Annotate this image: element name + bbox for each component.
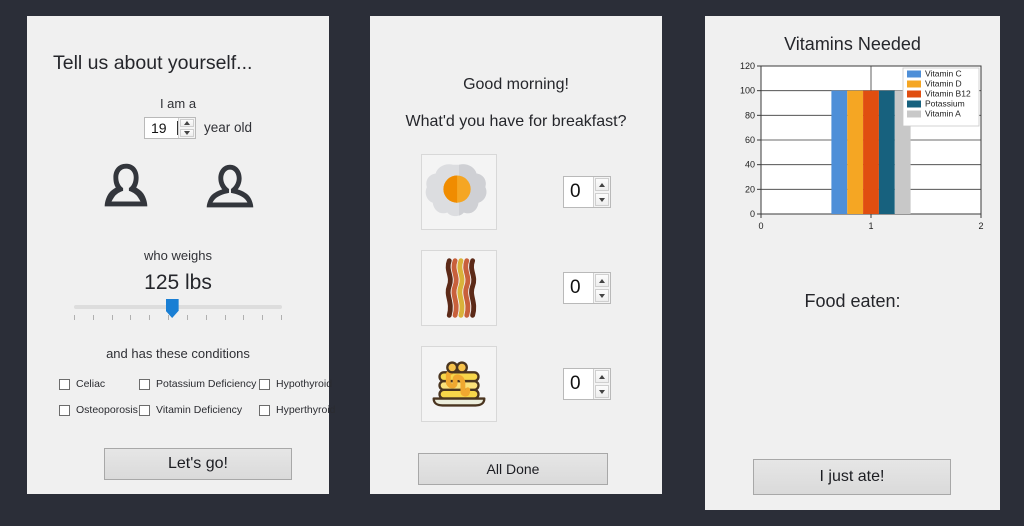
age-input[interactable]: 19: [145, 118, 177, 138]
y-tick-label: 60: [745, 135, 755, 145]
y-tick-label: 80: [745, 110, 755, 120]
legend-swatch: [907, 71, 921, 78]
checkbox-label: Potassium Deficiency: [156, 378, 256, 390]
chevron-down-icon: [599, 198, 605, 202]
bacon-increment-button[interactable]: [595, 274, 609, 287]
vitamins-panel: Vitamins Needed 020406080100120012Vitami…: [705, 16, 1000, 510]
food-row: 0: [370, 250, 662, 326]
vitamins-bar-chart: 020406080100120012Vitamin CVitamin DVita…: [729, 60, 991, 240]
checkbox-celiac[interactable]: Celiac: [59, 378, 139, 390]
checkbox-icon[interactable]: [139, 379, 150, 390]
y-tick-label: 20: [745, 184, 755, 194]
greeting-text: Good morning!: [370, 76, 662, 94]
bacon-count-input[interactable]: 0: [564, 273, 593, 303]
food-row: 0: [370, 346, 662, 422]
slider-tick: [168, 315, 169, 320]
checkbox-icon[interactable]: [259, 379, 270, 390]
chevron-up-icon: [599, 279, 605, 283]
pancakes-increment-button[interactable]: [595, 370, 609, 383]
fried-egg-icon[interactable]: [421, 154, 497, 230]
age-stepper[interactable]: 19: [144, 117, 196, 139]
all-done-button[interactable]: All Done: [418, 453, 608, 485]
chevron-up-icon: [599, 183, 605, 187]
gender-selector: [27, 156, 329, 218]
legend-swatch: [907, 91, 921, 98]
chevron-up-icon: [599, 375, 605, 379]
checkbox-icon[interactable]: [59, 405, 70, 416]
app-window: Tell us about yourself... I am a 19 year…: [0, 0, 1024, 526]
x-tick-label: 1: [868, 221, 873, 231]
x-tick-label: 2: [978, 221, 983, 231]
slider-tick: [206, 315, 207, 320]
slider-tick: [225, 315, 226, 320]
y-tick-label: 40: [745, 160, 755, 170]
slider-tick: [74, 315, 75, 320]
egg-increment-button[interactable]: [595, 178, 609, 191]
age-stepper-buttons[interactable]: [178, 118, 195, 138]
legend-swatch: [907, 101, 921, 108]
meal-panel: Good morning! What'd you have for breakf…: [370, 16, 662, 494]
slider-tick: [93, 315, 94, 320]
chevron-down-icon: [599, 294, 605, 298]
person-male-icon[interactable]: [199, 156, 261, 218]
conditions-label: and has these conditions: [27, 346, 329, 361]
slider-tick: [112, 315, 113, 320]
checkbox-potassium-deficiency[interactable]: Potassium Deficiency: [139, 378, 259, 390]
food-row: 0: [370, 154, 662, 230]
egg-count-input[interactable]: 0: [564, 177, 593, 207]
checkbox-osteoporosis[interactable]: Osteoporosis: [59, 404, 139, 416]
bar-potassium: [879, 91, 895, 214]
slider-tick: [187, 315, 188, 320]
age-decrement-button[interactable]: [180, 129, 194, 137]
x-tick-label: 0: [758, 221, 763, 231]
checkbox-icon[interactable]: [59, 379, 70, 390]
i-just-ate-button[interactable]: I just ate!: [753, 459, 951, 495]
slider-tick: [262, 315, 263, 320]
pancakes-decrement-button[interactable]: [595, 385, 609, 398]
pancakes-count-stepper[interactable]: 0: [563, 368, 611, 400]
checkbox-icon[interactable]: [259, 405, 270, 416]
bacon-count-stepper[interactable]: 0: [563, 272, 611, 304]
bacon-decrement-button[interactable]: [595, 289, 609, 302]
legend-label: Vitamin D: [925, 79, 962, 89]
lets-go-button[interactable]: Let's go!: [104, 448, 292, 480]
checkbox-label: Celiac: [76, 378, 105, 390]
bar-vitamin-c: [831, 91, 847, 214]
checkbox-vitamin-deficiency[interactable]: Vitamin Deficiency: [139, 404, 259, 416]
slider-tick: [243, 315, 244, 320]
person-female-icon[interactable]: [95, 156, 157, 218]
legend-label: Potassium: [925, 99, 965, 109]
y-tick-label: 100: [740, 86, 755, 96]
checkbox-hyperthyroid[interactable]: Hyperthyroid: [259, 404, 347, 416]
chevron-down-icon: [599, 390, 605, 394]
slider-tick: [281, 315, 282, 320]
age-label: I am a: [27, 96, 329, 111]
bar-vitamin-d: [847, 91, 863, 214]
checkbox-icon[interactable]: [139, 405, 150, 416]
chevron-up-icon: [184, 121, 190, 125]
checkbox-hypothyroid[interactable]: Hypothyroid: [259, 378, 347, 390]
y-tick-label: 0: [750, 209, 755, 219]
egg-stepper-buttons[interactable]: [593, 177, 610, 207]
slider-tick: [130, 315, 131, 320]
pancakes-icon[interactable]: [421, 346, 497, 422]
chart-title: Vitamins Needed: [705, 34, 1000, 55]
y-tick-label: 120: [740, 61, 755, 71]
bar-vitamin-b12: [863, 91, 879, 214]
weight-slider[interactable]: [74, 301, 282, 325]
age-units-label: year old: [204, 120, 252, 135]
age-increment-button[interactable]: [180, 119, 194, 127]
pancakes-stepper-buttons[interactable]: [593, 369, 610, 399]
legend-swatch: [907, 111, 921, 118]
weight-value: 125 lbs: [27, 271, 329, 295]
conditions-checkbox-group: Celiac Potassium Deficiency Hypothyroid …: [59, 378, 311, 416]
profile-panel: Tell us about yourself... I am a 19 year…: [27, 16, 329, 494]
page-title: Tell us about yourself...: [53, 52, 252, 75]
checkbox-label: Vitamin Deficiency: [156, 404, 242, 416]
checkbox-label: Hyperthyroid: [276, 404, 336, 416]
legend-label: Vitamin A: [925, 109, 961, 119]
egg-decrement-button[interactable]: [595, 193, 609, 206]
chevron-down-icon: [184, 131, 190, 135]
legend-swatch: [907, 81, 921, 88]
weight-label: who weighs: [27, 248, 329, 263]
checkbox-label: Osteoporosis: [76, 404, 138, 416]
food-eaten-label: Food eaten:: [705, 291, 1000, 312]
bacon-stepper-buttons[interactable]: [593, 273, 610, 303]
bacon-icon[interactable]: [421, 250, 497, 326]
chart-svg: 020406080100120012Vitamin CVitamin DVita…: [729, 60, 991, 240]
slider-tick: [149, 315, 150, 320]
egg-count-stepper[interactable]: 0: [563, 176, 611, 208]
legend-label: Vitamin C: [925, 69, 962, 79]
legend-label: Vitamin B12: [925, 89, 971, 99]
slider-ticks: [74, 315, 282, 320]
breakfast-question: What'd you have for breakfast?: [370, 113, 662, 131]
pancakes-count-input[interactable]: 0: [564, 369, 593, 399]
checkbox-label: Hypothyroid: [276, 378, 332, 390]
